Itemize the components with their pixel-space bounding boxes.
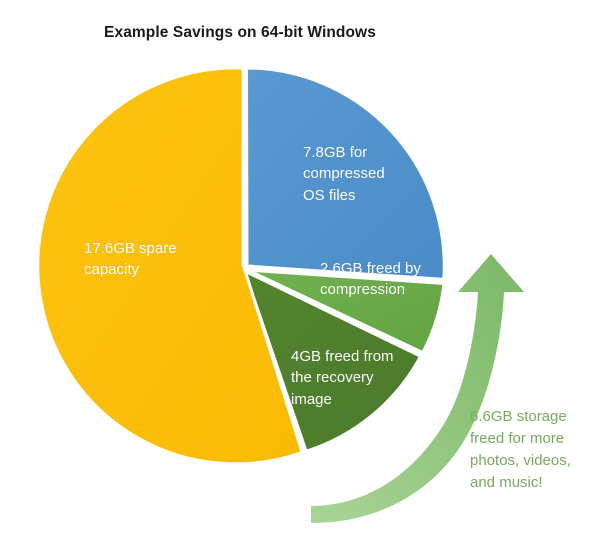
- slice-label-compressed-os-files: 7.8GB for compressed OS files: [303, 142, 423, 206]
- annotation-savings-callout: 6.6GB storage freed for more photos, vid…: [470, 406, 598, 494]
- slice-label-freed-by-compression: 2.6GB freed by compression: [320, 258, 455, 301]
- slice-label-spare-capacity: 17.6GB spare capacity: [84, 238, 214, 281]
- slice-label-freed-from-recovery-image: 4GB freed from the recovery image: [291, 346, 431, 410]
- pie-chart-figure: Example Savings on 64-bit Windows: [0, 0, 600, 549]
